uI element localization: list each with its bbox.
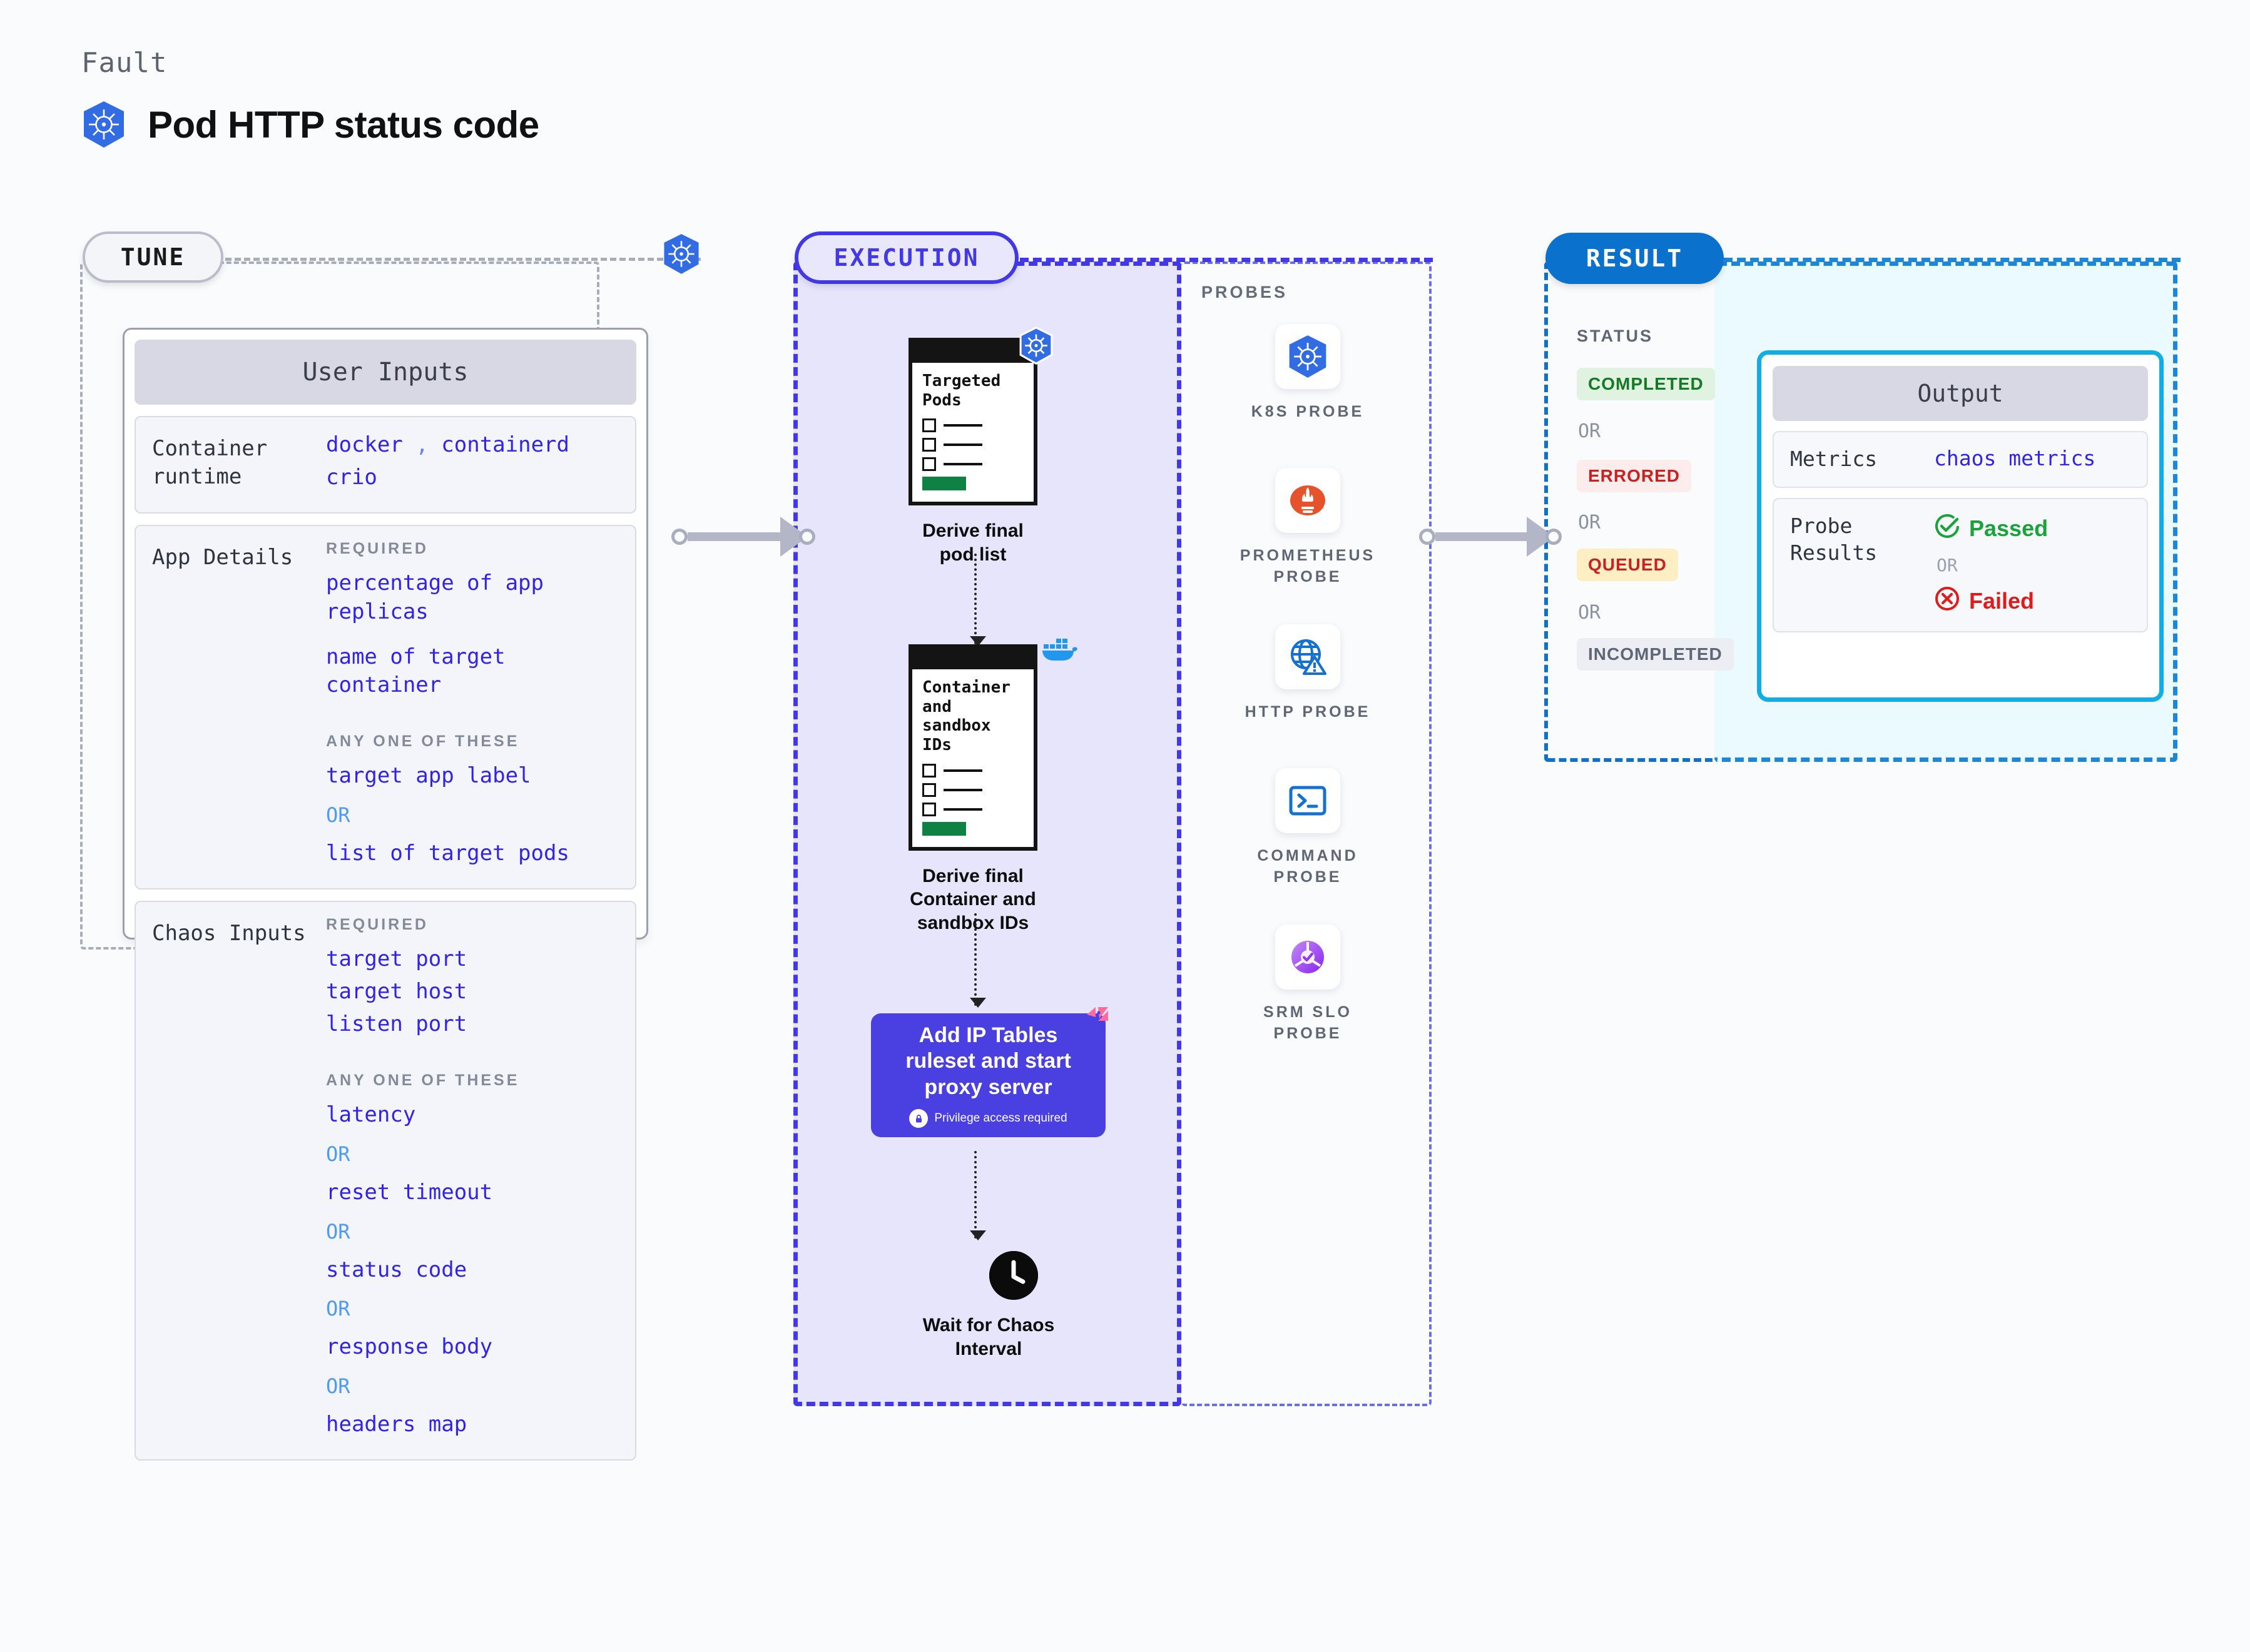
document-checklist bbox=[922, 764, 1024, 836]
connector-bar bbox=[688, 532, 781, 541]
status-badge-completed: COMPLETED bbox=[1577, 368, 1715, 400]
kubernetes-icon bbox=[662, 233, 701, 278]
probes-title: PROBES bbox=[1201, 283, 1288, 302]
value-item: target port bbox=[326, 945, 619, 974]
value-item: response body bbox=[326, 1333, 619, 1362]
execution-action-box[interactable]: Add IP Tables ruleset and start proxy se… bbox=[871, 1013, 1106, 1137]
connector-dot bbox=[1419, 529, 1435, 545]
status-badge-incompleted: INCOMPLETED bbox=[1577, 638, 1734, 671]
output-card: Output Metrics chaos metrics Probe Resul… bbox=[1757, 350, 2164, 702]
execution-node-container-ids: Container and sandbox IDs Derive final C… bbox=[909, 644, 1062, 935]
line-placeholder bbox=[944, 789, 982, 791]
value-item: latency bbox=[326, 1101, 619, 1130]
value-item: list of target pods bbox=[326, 839, 619, 868]
probe-label: SRM SLO PROBE bbox=[1239, 1002, 1377, 1045]
document-titlebar bbox=[912, 648, 1034, 669]
srm-slo-icon bbox=[1275, 925, 1340, 990]
user-inputs-header: User Inputs bbox=[135, 340, 636, 405]
harness-icon bbox=[1083, 1005, 1112, 1036]
status-bar-green bbox=[922, 822, 966, 836]
connector-tune-to-execution bbox=[671, 517, 815, 557]
section-heading: ANY ONE OF THESE bbox=[326, 1072, 619, 1090]
execution-node-wait: Wait for Chaos Interval bbox=[964, 1251, 1064, 1361]
docker-icon bbox=[1041, 634, 1077, 667]
page-title-row: Pod HTTP status code bbox=[81, 100, 539, 149]
value-item: status code bbox=[326, 1256, 619, 1285]
input-group-chaos-inputs: Chaos Inputs REQUIRED target port target… bbox=[135, 901, 636, 1461]
kubernetes-icon bbox=[1275, 324, 1340, 389]
status-badge-errored: ERRORED bbox=[1577, 460, 1691, 492]
execution-node-pod-list: Targeted Pods Derive final pod list bbox=[909, 338, 1037, 566]
fault-eyebrow: Fault bbox=[81, 47, 167, 79]
section-heading: ANY ONE OF THESE bbox=[326, 732, 619, 751]
line-placeholder bbox=[944, 424, 982, 427]
connector-probes-to-result bbox=[1419, 517, 1562, 557]
kubernetes-icon bbox=[1019, 327, 1054, 368]
line-placeholder bbox=[944, 443, 982, 446]
document-titlebar bbox=[912, 342, 1034, 363]
probe-label: HTTP PROBE bbox=[1239, 702, 1377, 723]
probe-result-passed: Passed bbox=[1934, 513, 2048, 545]
or-separator: OR bbox=[326, 1374, 619, 1398]
document-title: Container and sandbox IDs bbox=[922, 678, 1004, 755]
passed-label: Passed bbox=[1969, 515, 2048, 542]
probe-label: PROMETHEUS PROBE bbox=[1239, 545, 1377, 588]
probe-label: K8S PROBE bbox=[1239, 402, 1377, 423]
node-caption: Derive final Container and sandbox IDs bbox=[883, 864, 1062, 935]
output-row-metrics: Metrics chaos metrics bbox=[1773, 431, 2148, 488]
connector-bar bbox=[1435, 532, 1528, 541]
privilege-note-label: Privilege access required bbox=[934, 1112, 1067, 1125]
connector-dot bbox=[1545, 529, 1562, 545]
or-separator: OR bbox=[326, 1220, 619, 1244]
value-item: headers map bbox=[326, 1411, 619, 1439]
connector-dot bbox=[799, 529, 815, 545]
flow-arrow bbox=[974, 913, 977, 1006]
page-title: Pod HTTP status code bbox=[148, 103, 539, 146]
document-card: Container and sandbox IDs bbox=[909, 644, 1037, 851]
section-heading: REQUIRED bbox=[326, 916, 619, 934]
status-badge-queued: QUEUED bbox=[1577, 549, 1678, 581]
metrics-value: chaos metrics bbox=[1934, 446, 2095, 473]
check-circle-icon bbox=[1934, 513, 1960, 545]
result-pill[interactable]: RESULT bbox=[1545, 233, 1724, 284]
probe-result-failed: Failed bbox=[1934, 585, 2048, 617]
document-checklist bbox=[922, 418, 1024, 490]
or-separator: OR bbox=[326, 803, 619, 827]
or-separator: OR bbox=[1937, 555, 2048, 575]
line-placeholder bbox=[944, 769, 982, 772]
probe-k8s[interactable]: K8S PROBE bbox=[1239, 324, 1377, 423]
or-separator: OR bbox=[1578, 420, 1601, 442]
or-separator: OR bbox=[326, 1297, 619, 1320]
connector-dot bbox=[671, 529, 688, 545]
value-row: docker , containerd bbox=[326, 431, 619, 460]
value-item: percentage of app replicas bbox=[326, 569, 619, 627]
value-item: target app label bbox=[326, 762, 619, 791]
checkbox-icon bbox=[922, 764, 936, 778]
x-circle-icon bbox=[1934, 585, 1960, 617]
privilege-note: Privilege access required bbox=[909, 1109, 1067, 1128]
tune-pill[interactable]: TUNE bbox=[83, 231, 223, 283]
value-item: name of target container bbox=[326, 643, 619, 701]
status-bar-green bbox=[922, 477, 966, 490]
probe-srm-slo[interactable]: SRM SLO PROBE bbox=[1239, 925, 1377, 1045]
status-title: STATUS bbox=[1577, 327, 1653, 346]
or-separator: OR bbox=[326, 1142, 619, 1166]
or-separator: OR bbox=[1578, 602, 1601, 624]
probe-command[interactable]: COMMAND PROBE bbox=[1239, 768, 1377, 888]
checkbox-icon bbox=[922, 457, 936, 471]
node-caption: Derive final pod list bbox=[909, 519, 1037, 566]
group-label: Container runtime bbox=[152, 431, 326, 496]
prometheus-icon bbox=[1275, 468, 1340, 533]
probe-results-label: Probe Results bbox=[1790, 513, 1934, 617]
probe-prometheus[interactable]: PROMETHEUS PROBE bbox=[1239, 468, 1377, 588]
comma-separator: , bbox=[415, 432, 428, 457]
lock-icon bbox=[909, 1109, 928, 1128]
flow-arrow bbox=[974, 554, 977, 644]
line-placeholder bbox=[944, 808, 982, 811]
clock-icon bbox=[989, 1251, 1038, 1300]
document-title: Targeted Pods bbox=[922, 372, 1024, 410]
value-docker: docker bbox=[326, 432, 403, 457]
value-item: target host bbox=[326, 978, 619, 1006]
value-item: listen port bbox=[326, 1010, 619, 1039]
user-inputs-card: User Inputs Container runtime docker , c… bbox=[123, 328, 648, 940]
value-containerd: containerd bbox=[441, 432, 569, 457]
input-group-container-runtime: Container runtime docker , containerd cr… bbox=[135, 416, 636, 514]
probe-label: COMMAND PROBE bbox=[1239, 846, 1377, 888]
action-title: Add IP Tables ruleset and start proxy se… bbox=[882, 1023, 1094, 1100]
checkbox-icon bbox=[922, 418, 936, 432]
checkbox-icon bbox=[922, 803, 936, 816]
line-placeholder bbox=[944, 463, 982, 465]
checkbox-icon bbox=[922, 783, 936, 797]
terminal-icon bbox=[1275, 768, 1340, 833]
metrics-label: Metrics bbox=[1790, 446, 1934, 473]
tune-header-line bbox=[225, 258, 701, 261]
globe-warning-icon bbox=[1275, 624, 1340, 689]
output-header: Output bbox=[1773, 366, 2148, 421]
section-heading: REQUIRED bbox=[326, 540, 619, 558]
probe-http[interactable]: HTTP PROBE bbox=[1239, 624, 1377, 723]
node-caption: Wait for Chaos Interval bbox=[914, 1314, 1064, 1361]
group-label: App Details bbox=[152, 540, 326, 872]
group-label: Chaos Inputs bbox=[152, 916, 326, 1443]
kubernetes-icon bbox=[81, 100, 126, 149]
failed-label: Failed bbox=[1969, 588, 2034, 614]
flow-arrow bbox=[974, 1151, 977, 1239]
result-header-line bbox=[1724, 258, 2181, 262]
input-group-app-details: App Details REQUIRED percentage of app r… bbox=[135, 525, 636, 889]
value-item: reset timeout bbox=[326, 1178, 619, 1207]
value-crio: crio bbox=[326, 464, 619, 492]
execution-pill[interactable]: EXECUTION bbox=[795, 231, 1019, 284]
execution-header-line bbox=[1020, 258, 1433, 262]
or-separator: OR bbox=[1578, 512, 1601, 534]
output-row-probe-results: Probe Results Passed OR bbox=[1773, 498, 2148, 632]
checkbox-icon bbox=[922, 438, 936, 452]
